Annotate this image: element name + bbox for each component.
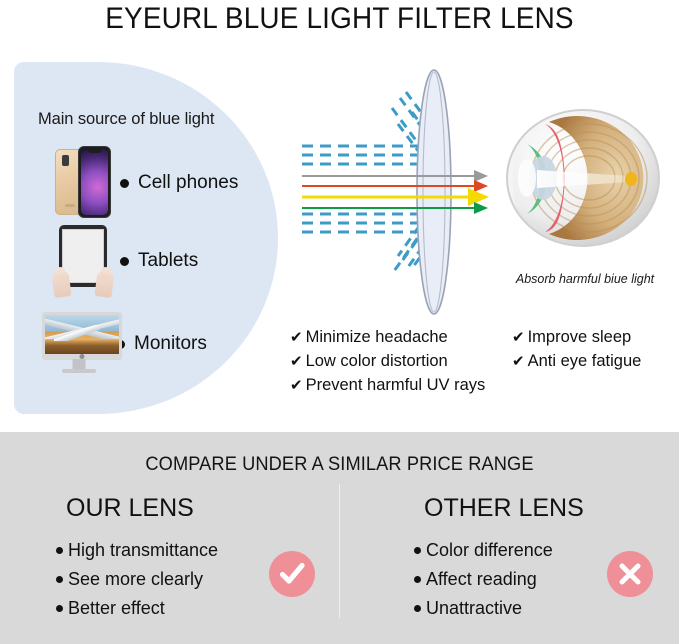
benefit-label: Prevent harmful UV rays xyxy=(306,376,486,395)
list-item-label: Affect reading xyxy=(426,569,537,590)
compare-section: COMPARE UNDER A SIMILAR PRICE RANGE OUR … xyxy=(0,432,679,644)
check-icon: ✔ xyxy=(512,328,525,346)
list-item: High transmittance xyxy=(56,540,218,561)
source-label-wrapper: Monitors xyxy=(116,333,207,355)
benefits-right-column: ✔ Improve sleep ✔ Anti eye fatigue xyxy=(512,328,641,376)
check-mark-icon xyxy=(277,559,307,589)
benefit-item: ✔ Anti eye fatigue xyxy=(512,352,641,371)
source-item-cell-phones: Cell phones xyxy=(46,146,238,220)
benefit-label: Anti eye fatigue xyxy=(528,352,642,371)
our-lens-list: High transmittance See more clearly Bett… xyxy=(56,540,218,627)
bullet-dot-icon xyxy=(56,605,63,612)
check-icon: ✔ xyxy=(290,376,303,394)
bullet-dot-icon xyxy=(414,547,421,554)
our-lens-heading: OUR LENS xyxy=(66,494,194,523)
list-item: Affect reading xyxy=(414,569,553,590)
monitor-icon xyxy=(42,312,116,376)
mountain-shape-front xyxy=(54,325,100,341)
source-item-tablets: Tablets xyxy=(46,225,198,297)
transmitted-rays xyxy=(302,176,486,208)
bullet-dot-icon xyxy=(56,576,63,583)
other-lens-cross-badge xyxy=(607,551,653,597)
list-item: Better effect xyxy=(56,598,218,619)
list-item: Unattractive xyxy=(414,598,553,619)
list-item: See more clearly xyxy=(56,569,218,590)
list-item-label: High transmittance xyxy=(68,540,218,561)
sources-heading: Main source of blue light xyxy=(38,110,214,129)
benefit-item: ✔ Low color distortion xyxy=(290,352,485,371)
list-item-label: Better effect xyxy=(68,598,165,619)
monitor-screen-wallpaper xyxy=(45,315,119,354)
monitor-stand xyxy=(73,359,86,369)
phone-front-body xyxy=(78,146,111,218)
source-label: Cell phones xyxy=(138,172,238,194)
lens-body xyxy=(417,70,451,314)
eye-caption: Absorb harmful biue light xyxy=(497,272,673,286)
check-icon: ✔ xyxy=(512,352,525,370)
benefit-label: Improve sleep xyxy=(528,328,632,347)
benefit-label: Low color distortion xyxy=(306,352,448,371)
benefits-left-column: ✔ Minimize headache ✔ Low color distorti… xyxy=(290,328,485,400)
source-label: Tablets xyxy=(138,250,198,272)
check-icon: ✔ xyxy=(290,328,303,346)
tablet-icon xyxy=(46,225,120,297)
monitor-body xyxy=(42,312,122,360)
our-lens-check-badge xyxy=(269,551,315,597)
infographic-page: EYEURL BLUE LIGHT FILTER LENS Main sourc… xyxy=(0,0,679,644)
hand-right-icon xyxy=(94,270,114,298)
column-divider xyxy=(339,484,340,618)
monitor-foot xyxy=(62,369,96,373)
bullet-dot-icon xyxy=(120,179,129,188)
check-icon: ✔ xyxy=(290,352,303,370)
benefit-label: Minimize headache xyxy=(306,328,448,347)
hand-left-icon xyxy=(51,270,71,298)
smartphone-icon xyxy=(46,146,120,220)
compare-title: COMPARE UNDER A SIMILAR PRICE RANGE xyxy=(14,454,666,476)
page-title: EYEURL BLUE LIGHT FILTER LENS xyxy=(24,2,655,36)
blue-rays-incoming-top xyxy=(302,146,420,164)
eye-anatomy-illustration xyxy=(497,104,669,264)
benefit-item: ✔ Improve sleep xyxy=(512,328,641,347)
pupil-opening xyxy=(518,159,536,197)
bullet-dot-icon xyxy=(414,605,421,612)
list-item: Color difference xyxy=(414,540,553,561)
cross-mark-icon xyxy=(615,559,645,589)
lens-ray-diagram xyxy=(288,68,496,316)
list-item-label: Color difference xyxy=(426,540,553,561)
source-label-wrapper: Cell phones xyxy=(120,172,238,194)
other-lens-heading: OTHER LENS xyxy=(424,494,584,523)
phone-screen xyxy=(81,149,108,215)
benefit-item: ✔ Prevent harmful UV rays xyxy=(290,376,485,395)
source-label: Monitors xyxy=(134,333,207,355)
bullet-dot-icon xyxy=(56,547,63,554)
blue-rays-incoming-bottom xyxy=(302,214,420,232)
benefit-item: ✔ Minimize headache xyxy=(290,328,485,347)
bullet-dot-icon xyxy=(120,257,129,266)
list-item-label: Unattractive xyxy=(426,598,522,619)
macula xyxy=(625,172,637,186)
source-label-wrapper: Tablets xyxy=(120,250,198,272)
bullet-dot-icon xyxy=(414,576,421,583)
source-item-monitors: Monitors xyxy=(42,312,207,376)
list-item-label: See more clearly xyxy=(68,569,203,590)
other-lens-list: Color difference Affect reading Unattrac… xyxy=(414,540,553,627)
